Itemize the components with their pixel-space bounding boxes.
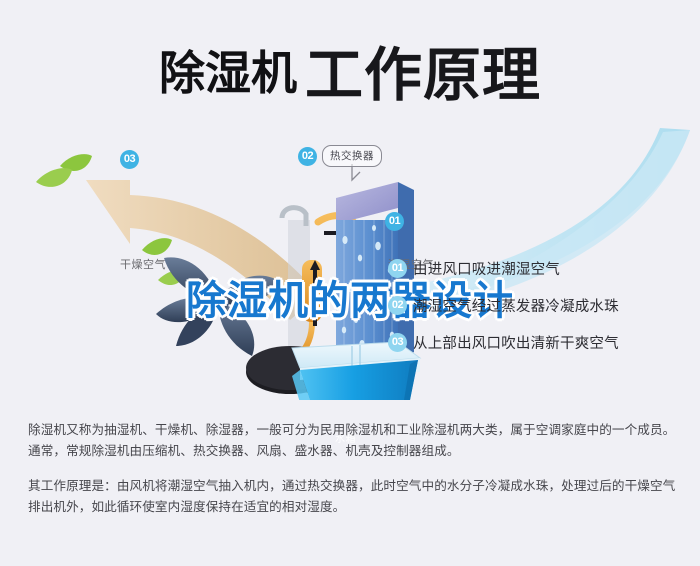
steps-list: 01 由进风口吸进潮湿空气 02 潮湿空气经过蒸发器冷凝成水珠 03 从上部出风… — [388, 258, 688, 369]
paragraph-definition: 除湿机又称为抽湿机、干燥机、除湿器，一般可分为民用除湿机和工业除湿机两大类，属于… — [28, 420, 678, 462]
page-root: 除湿机工作原理 — [0, 0, 700, 566]
list-item: 01 由进风口吸进潮湿空气 — [388, 258, 688, 278]
list-item: 02 潮湿空气经过蒸发器冷凝成水珠 — [388, 295, 688, 315]
step-label: 从上部出风口吹出清新干爽空气 — [413, 332, 619, 353]
callout-heat-exchanger: 热交换器 — [322, 145, 382, 167]
step-label: 潮湿空气经过蒸发器冷凝成水珠 — [413, 295, 619, 316]
marker-02-heat-exchanger: 02 — [298, 147, 317, 166]
list-item: 03 从上部出风口吹出清新干爽空气 — [388, 332, 688, 352]
step-label: 由进风口吸进潮湿空气 — [413, 258, 560, 279]
step-number: 03 — [388, 333, 407, 352]
page-title: 除湿机工作原理 — [0, 28, 700, 112]
step-number: 01 — [388, 259, 407, 278]
title-main-text: 除湿机 — [159, 47, 297, 99]
title-sub-text: 工作原理 — [305, 43, 541, 108]
body-copy: 除湿机又称为抽湿机、干燥机、除湿器，一般可分为民用除湿机和工业除湿机两大类，属于… — [28, 420, 678, 532]
paragraph-principle: 其工作原理是：由风机将潮湿空气抽入机内，通过热交换器，此时空气中的水分子冷凝成水… — [28, 476, 678, 518]
step-number: 02 — [388, 296, 407, 315]
marker-01-humid-air: 01 — [385, 212, 404, 231]
marker-03-dry-air: 03 — [120, 150, 139, 169]
